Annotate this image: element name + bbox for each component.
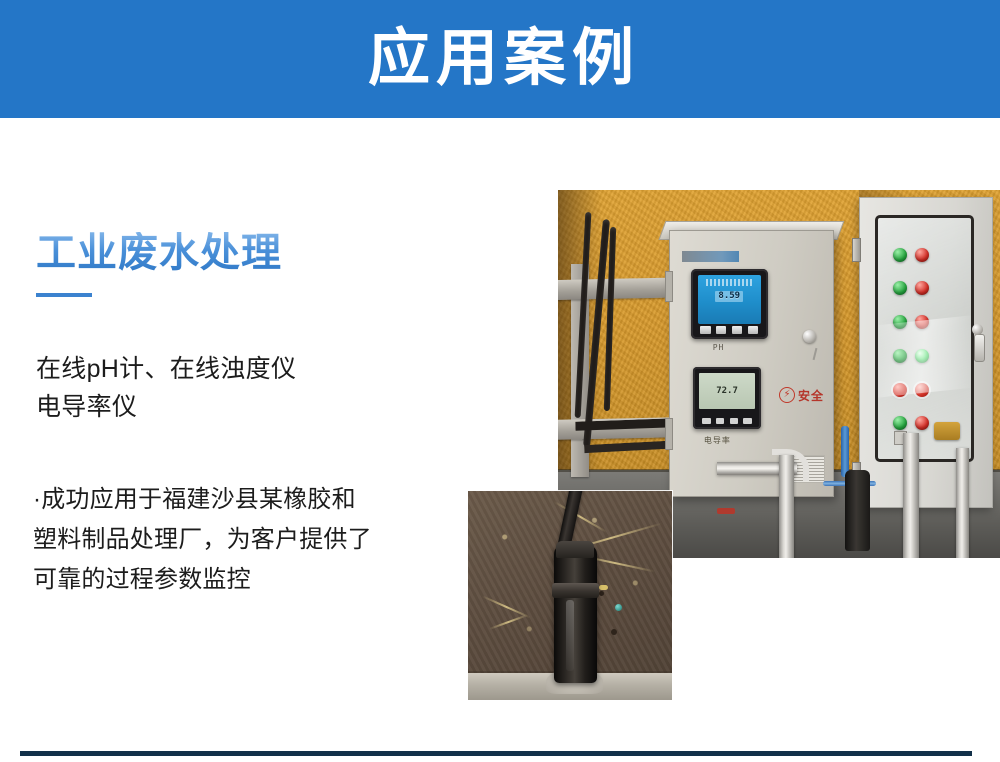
conductivity-meter-buttons bbox=[700, 417, 755, 426]
blue-tubing bbox=[841, 426, 849, 478]
ph-meter-header-bar bbox=[706, 279, 753, 286]
ph-meter-button bbox=[748, 326, 758, 334]
case-description: ·成功应用于福建沙县某橡胶和 塑料制品处理厂，为客户提供了 可靠的过程参数监控 bbox=[33, 480, 453, 600]
instrument-line: 电导率仪 bbox=[36, 388, 456, 426]
application-case-page: 应用案例 工业废水处理 在线pH计、在线浊度仪 电导率仪 ·成功应用于福建沙县某… bbox=[0, 0, 1000, 762]
photo-sensor-probe bbox=[468, 491, 672, 700]
ph-meter-buttons bbox=[698, 324, 761, 335]
red-marker-tag bbox=[717, 508, 735, 514]
control-cabinet bbox=[859, 197, 994, 508]
ph-meter-label: PH bbox=[713, 343, 725, 352]
ground-debris bbox=[599, 585, 608, 590]
conductivity-meter-button bbox=[730, 418, 738, 424]
indicator-lamp-green bbox=[893, 248, 907, 262]
ph-meter-screen: 8.59 bbox=[698, 275, 761, 324]
footer-divider-rule bbox=[20, 751, 972, 756]
instrument-list: 在线pH计、在线浊度仪 电导率仪 bbox=[36, 350, 456, 426]
probe-body bbox=[554, 545, 597, 683]
probe-collar bbox=[552, 583, 599, 598]
indicator-lamp-red bbox=[915, 281, 929, 295]
description-line: ·成功应用于福建沙县某橡胶和 bbox=[33, 480, 453, 520]
description-line: 可靠的过程参数监控 bbox=[33, 560, 453, 600]
page-header-banner: 应用案例 bbox=[0, 0, 1000, 118]
title-underline-rule bbox=[36, 293, 92, 297]
probe-highlight bbox=[566, 600, 574, 671]
case-title: 工业废水处理 bbox=[36, 232, 456, 275]
indicator-lamp-red bbox=[915, 248, 929, 262]
ph-meter-reading: 8.59 bbox=[715, 291, 743, 302]
high-voltage-icon: ⚡ bbox=[779, 387, 795, 403]
installed-probe bbox=[845, 470, 869, 551]
conductivity-meter-screen: 72.7 bbox=[699, 373, 755, 409]
ph-meter-button bbox=[732, 326, 742, 334]
cabinet-hinge bbox=[852, 238, 861, 262]
indicator-lamp-green bbox=[893, 281, 907, 295]
window-glare bbox=[875, 314, 974, 399]
page-title: 应用案例 bbox=[368, 28, 640, 90]
case-text-column: 工业废水处理 在线pH计、在线浊度仪 电导率仪 ·成功应用于福建沙县某橡胶和 塑… bbox=[36, 232, 456, 297]
ph-meter: 8.59 bbox=[691, 269, 768, 339]
description-line: 塑料制品处理厂，为客户提供了 bbox=[33, 520, 453, 560]
conductivity-meter-button bbox=[743, 418, 751, 424]
ph-meter-button bbox=[716, 326, 726, 334]
safety-warning-text: 安全 bbox=[798, 387, 824, 404]
safety-warning-sticker: ⚡ 安全 bbox=[779, 387, 824, 404]
cabinet-latch-knob bbox=[972, 324, 983, 335]
pipe-vertical bbox=[779, 455, 794, 558]
pipe-vertical bbox=[956, 448, 969, 558]
ground-debris bbox=[611, 629, 617, 635]
enclosure-hinge bbox=[665, 271, 672, 302]
instrument-line: 在线pH计、在线浊度仪 bbox=[36, 350, 456, 388]
indicator-lamp-red bbox=[915, 416, 929, 430]
pipe-vertical bbox=[903, 433, 919, 558]
brass-valve bbox=[934, 422, 961, 440]
probe-cap bbox=[556, 541, 595, 558]
ground-debris bbox=[599, 591, 604, 596]
conductivity-meter-label: 电导率 bbox=[704, 435, 731, 446]
conductivity-meter-reading: 72.7 bbox=[716, 387, 738, 396]
indicator-lamp-green bbox=[893, 416, 907, 430]
ground-debris bbox=[615, 604, 622, 611]
enclosure-hinge bbox=[665, 418, 672, 449]
conductivity-meter-button bbox=[702, 418, 710, 424]
cabinet-latch bbox=[974, 334, 985, 362]
conductivity-meter: 72.7 bbox=[693, 367, 762, 430]
brand-logo-strip bbox=[682, 251, 739, 262]
conductivity-meter-button bbox=[716, 418, 724, 424]
ph-meter-button bbox=[700, 326, 710, 334]
